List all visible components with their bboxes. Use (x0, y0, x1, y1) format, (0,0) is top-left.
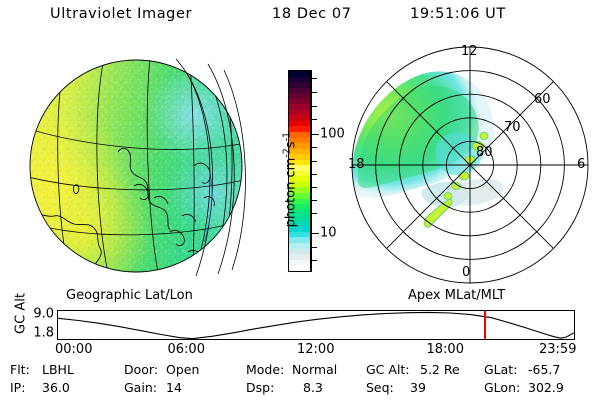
header-bar: Ultraviolet Imager 18 Dec 07 19:51:06 UT (0, 6, 600, 28)
colorbar-tick-label: 10 (320, 226, 337, 239)
status-value: Open (166, 362, 199, 377)
status-value: 14 (166, 380, 182, 395)
status-value: Normal (292, 362, 337, 377)
status-label: Mode: (246, 362, 284, 377)
colorbar-minor-tick (311, 200, 317, 201)
status-label: Flt: (10, 362, 30, 377)
strip-y-tick-label: 9.0 (33, 306, 54, 321)
mlat-ring-label: 70 (504, 120, 521, 135)
colorbar-minor-tick (311, 247, 317, 248)
status-value: 5.2 Re (420, 362, 460, 377)
status-label: Seq: (366, 380, 394, 395)
mlat-ring-label: 80 (476, 145, 493, 160)
colorbar-unit-label: photon cm-2s-1 (281, 100, 298, 260)
apex-polar-panel: 121860607080 (348, 40, 596, 292)
mlt-label: 6 (577, 157, 585, 172)
colorbar-minor-tick (311, 119, 317, 120)
geographic-globe-panel (18, 46, 256, 288)
status-label: GC Alt: (366, 362, 410, 377)
globe-overlay-svg (18, 46, 256, 288)
orbit-strip-chart-panel: Geographic Lat/Lon Apex MLat/MLT GC Alt … (0, 288, 600, 356)
status-value: LBHL (42, 362, 74, 377)
colorbar-minor-tick (311, 187, 317, 188)
strip-x-tick-label: 18:00 (427, 342, 464, 357)
colorbar-major-tick (311, 134, 319, 135)
polar-panel-title: Apex MLat/MLT (408, 288, 505, 303)
strip-x-tick-label: 23:59 (539, 342, 576, 357)
strip-chart-plot-area[interactable] (57, 310, 575, 340)
colorbar-major-tick (311, 233, 319, 234)
colorbar-minor-tick (311, 161, 317, 162)
mlt-label: 12 (461, 44, 478, 59)
current-time-marker (484, 311, 486, 339)
observation-date: 18 Dec 07 (272, 6, 352, 22)
status-label: IP: (10, 380, 25, 395)
colorbar-minor-tick (311, 78, 317, 79)
status-bar: Flt:LBHLDoor:OpenMode:NormalGC Alt:5.2 R… (0, 362, 600, 400)
mlat-ring-label: 60 (534, 92, 551, 107)
colorbar-axis-line (311, 70, 312, 272)
colorbar-band (289, 265, 310, 271)
status-value: -65.7 (528, 362, 560, 377)
colorbar-panel: 10010 photon cm-2s-1 (258, 46, 350, 292)
strip-x-tick-label: 06:00 (168, 342, 205, 357)
colorbar-minor-tick (311, 92, 317, 93)
status-label: Gain: (124, 380, 157, 395)
colorbar-minor-tick (311, 106, 317, 107)
status-label: Dsp: (246, 380, 274, 395)
instrument-title: Ultraviolet Imager (50, 6, 192, 22)
globe-panel-title: Geographic Lat/Lon (66, 288, 193, 303)
strip-y-ticks: 9.01.8 (14, 310, 54, 340)
status-label: Door: (124, 362, 158, 377)
strip-chart-curve (58, 311, 574, 339)
strip-x-tick-label: 12:00 (297, 342, 334, 357)
status-label: GLon: (484, 380, 520, 395)
colorbar-minor-tick (311, 213, 317, 214)
strip-y-tick-label: 1.8 (33, 326, 54, 341)
polar-grid (352, 47, 588, 283)
colorbar-minor-tick (311, 174, 317, 175)
status-label: GLat: (484, 362, 517, 377)
uv-imager-display: Ultraviolet Imager 18 Dec 07 19:51:06 UT (0, 0, 600, 400)
colorbar-tick-label: 100 (320, 127, 345, 140)
status-value: 302.9 (528, 380, 564, 395)
strip-x-tick-label: 00:00 (55, 342, 92, 357)
observation-time: 19:51:06 UT (410, 6, 506, 22)
status-value: 36.0 (42, 380, 70, 395)
colorbar-minor-tick (311, 147, 317, 148)
status-value: 8.3 (303, 380, 323, 395)
status-value: 39 (410, 380, 426, 395)
mlt-label: 18 (348, 157, 365, 172)
mlt-label: 0 (462, 265, 470, 280)
polar-plot-svg (348, 40, 596, 292)
colorbar-minor-tick (311, 260, 317, 261)
